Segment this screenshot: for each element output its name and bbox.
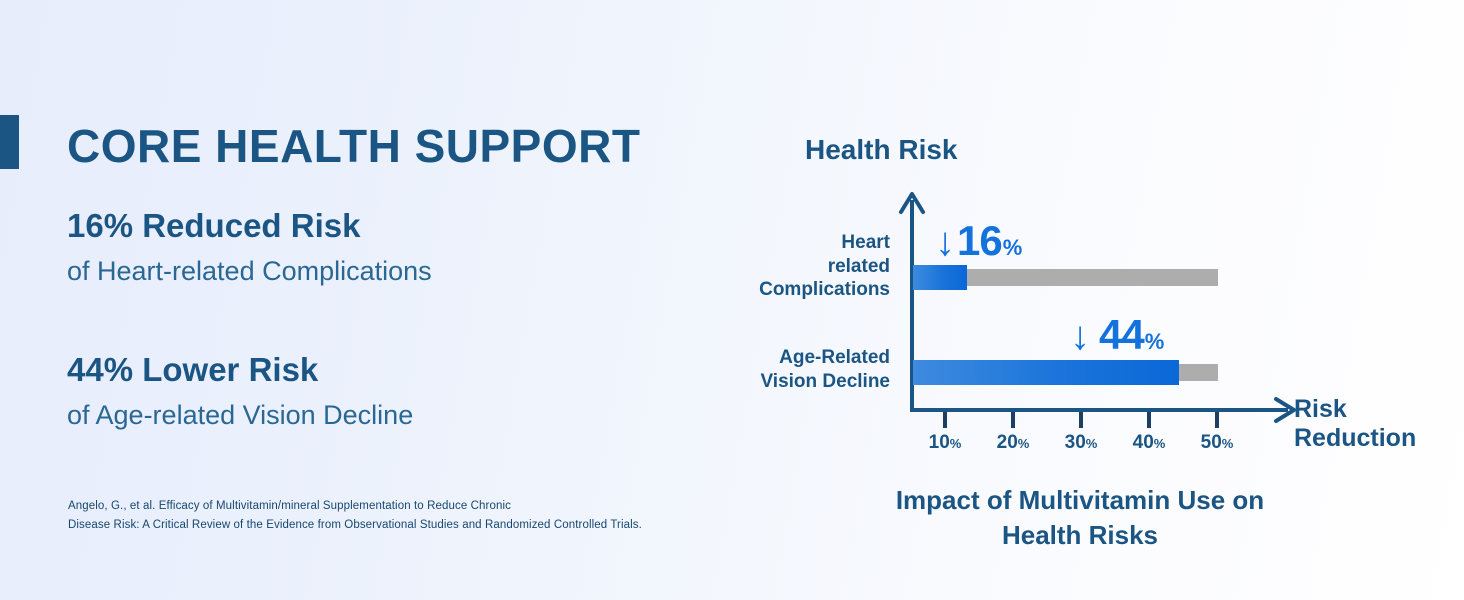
percent-symbol: % (1018, 436, 1030, 451)
value-callout-heart: ↓ 16 % (935, 220, 1022, 262)
bar-fill-heart (913, 265, 967, 290)
stat-subline: of Heart-related Complications (67, 253, 432, 289)
value-number: 44 (1099, 314, 1144, 356)
category-label-vision: Age-Related Vision Decline (680, 346, 890, 393)
x-tick-label-40: 40% (1133, 432, 1166, 454)
bar-chart: Health Risk Heart related Complications … (680, 120, 1464, 560)
bar-fill-vision (913, 360, 1179, 385)
chart-caption: Impact of Multivitamin Use on Health Ris… (840, 483, 1320, 553)
percent-symbol: % (950, 436, 962, 451)
stat-block-vision: 44% Lower Risk of Age-related Vision Dec… (67, 350, 413, 433)
x-tick-label-30: 30% (1065, 432, 1098, 454)
stat-headline: 16% Reduced Risk (67, 206, 432, 246)
chart-x-axis-title: Risk Reduction (1294, 395, 1416, 453)
category-label-line: Age-Related (680, 346, 890, 370)
infographic-canvas: CORE HEALTH SUPPORT 16% Reduced Risk of … (0, 0, 1464, 600)
bar-track (913, 269, 1218, 286)
category-label-heart: Heart related Complications (680, 231, 890, 302)
down-arrow-icon: ↓ (1070, 316, 1090, 356)
chart-x-axis-title-line2: Reduction (1294, 424, 1416, 453)
x-tick-label-50: 50% (1201, 432, 1234, 454)
accent-bar (0, 115, 19, 169)
page-title: CORE HEALTH SUPPORT (67, 120, 640, 172)
chart-caption-line2: Health Risks (840, 518, 1320, 553)
citation: Angelo, G., et al. Efficacy of Multivita… (68, 497, 642, 535)
x-tick-label-20: 20% (997, 432, 1030, 454)
stat-block-heart: 16% Reduced Risk of Heart-related Compli… (67, 206, 432, 289)
percent-symbol: % (1086, 436, 1098, 451)
chart-x-axis-title-line1: Risk (1294, 395, 1416, 424)
value-number: 16 (957, 220, 1002, 262)
citation-line-2: Disease Risk: A Critical Review of the E… (68, 516, 642, 535)
percent-symbol: % (1154, 436, 1166, 451)
bar-track (913, 364, 1218, 381)
category-label-line: Complications (680, 278, 890, 302)
category-label-line: Heart (680, 231, 890, 255)
stat-headline: 44% Lower Risk (67, 350, 413, 390)
stat-subline: of Age-related Vision Decline (67, 397, 413, 433)
value-callout-vision: ↓ 44 % (1070, 314, 1164, 356)
down-arrow-icon: ↓ (935, 222, 955, 262)
chart-caption-line1: Impact of Multivitamin Use on (840, 483, 1320, 518)
percent-symbol: % (1145, 331, 1165, 353)
citation-line-1: Angelo, G., et al. Efficacy of Multivita… (68, 497, 642, 516)
category-label-line: Vision Decline (680, 370, 890, 394)
category-label-line: related (680, 255, 890, 279)
percent-symbol: % (1222, 436, 1234, 451)
x-tick-label-10: 10% (929, 432, 962, 454)
percent-symbol: % (1003, 237, 1023, 259)
